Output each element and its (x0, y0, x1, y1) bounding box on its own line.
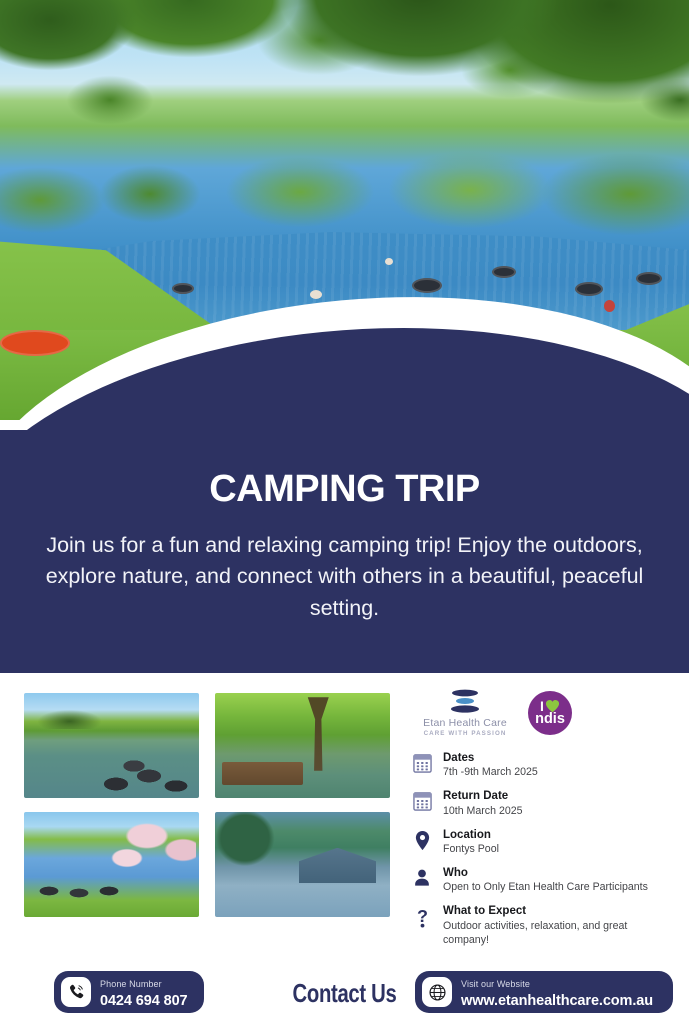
question-mark-icon: ? (410, 904, 434, 928)
etan-logo-name: Etan Health Care (422, 717, 508, 729)
website-pill[interactable]: Visit our Website www.etanhealthcare.com… (415, 971, 673, 1013)
hero-tube (575, 282, 603, 296)
brand-row: Etan Health Care CARE WITH PASSION I ndi… (410, 689, 672, 737)
detail-label: Dates (443, 751, 672, 765)
hero-swimmer (604, 300, 615, 312)
globe-icon (422, 977, 452, 1007)
website-label: Visit our Website (461, 979, 530, 989)
detail-label: Who (443, 866, 672, 880)
calendar-icon (410, 789, 434, 811)
gallery-photo-boathouse (215, 812, 390, 917)
photo-gallery (24, 693, 396, 923)
detail-value: 7th -9th March 2025 (443, 766, 672, 780)
hero-tube (412, 278, 442, 293)
detail-label: Location (443, 828, 672, 842)
etan-logo-mark (422, 689, 508, 715)
detail-value: Fontys Pool (443, 843, 672, 857)
contact-bar: Phone Number 0424 694 807 Contact Us Vis… (0, 968, 689, 1016)
detail-row-location: Location Fontys Pool (410, 828, 672, 857)
person-icon (410, 866, 434, 887)
detail-label: What to Expect (443, 904, 672, 918)
ndis-word-label: ndis (535, 712, 565, 727)
hero-tree-canopy (0, 0, 689, 190)
hero-tube (172, 283, 194, 294)
hero-float-red (0, 330, 70, 356)
detail-row-return-date: Return Date 10th March 2025 (410, 789, 672, 818)
detail-value: Open to Only Etan Health Care Participan… (443, 881, 672, 895)
hero-swimmer (385, 258, 393, 265)
location-pin-icon (410, 828, 434, 851)
page-subtitle: Join us for a fun and relaxing camping t… (28, 530, 661, 624)
headline-section: CAMPING TRIP Join us for a fun and relax… (0, 430, 689, 673)
hero-swimmer (310, 290, 322, 299)
website-value: www.etanhealthcare.com.au (461, 993, 653, 1009)
detail-row-what-to-expect: ? What to Expect Outdoor activities, rel… (410, 904, 672, 947)
etan-logo-tagline: CARE WITH PASSION (422, 730, 508, 737)
trip-details: Etan Health Care CARE WITH PASSION I ndi… (410, 689, 672, 957)
ndis-badge: I ndis (528, 691, 572, 735)
detail-value: Outdoor activities, relaxation, and grea… (443, 920, 672, 948)
hero-tube (492, 266, 516, 278)
calendar-icon (410, 751, 434, 773)
detail-row-dates: Dates 7th -9th March 2025 (410, 751, 672, 780)
gallery-photo-big-tree (215, 693, 390, 798)
detail-row-who: Who Open to Only Etan Health Care Partic… (410, 866, 672, 895)
info-section: Etan Health Care CARE WITH PASSION I ndi… (0, 673, 689, 1024)
detail-label: Return Date (443, 789, 672, 803)
gallery-photo-lake-tubes (24, 693, 199, 798)
gallery-photo-blossom (24, 812, 199, 917)
camping-trip-flyer: CAMPING TRIP Join us for a fun and relax… (0, 0, 689, 1024)
hero-tube (636, 272, 662, 285)
etan-logo: Etan Health Care CARE WITH PASSION (422, 689, 508, 737)
detail-value: 10th March 2025 (443, 805, 672, 819)
svg-text:?: ? (417, 907, 428, 927)
page-title: CAMPING TRIP (28, 470, 661, 508)
